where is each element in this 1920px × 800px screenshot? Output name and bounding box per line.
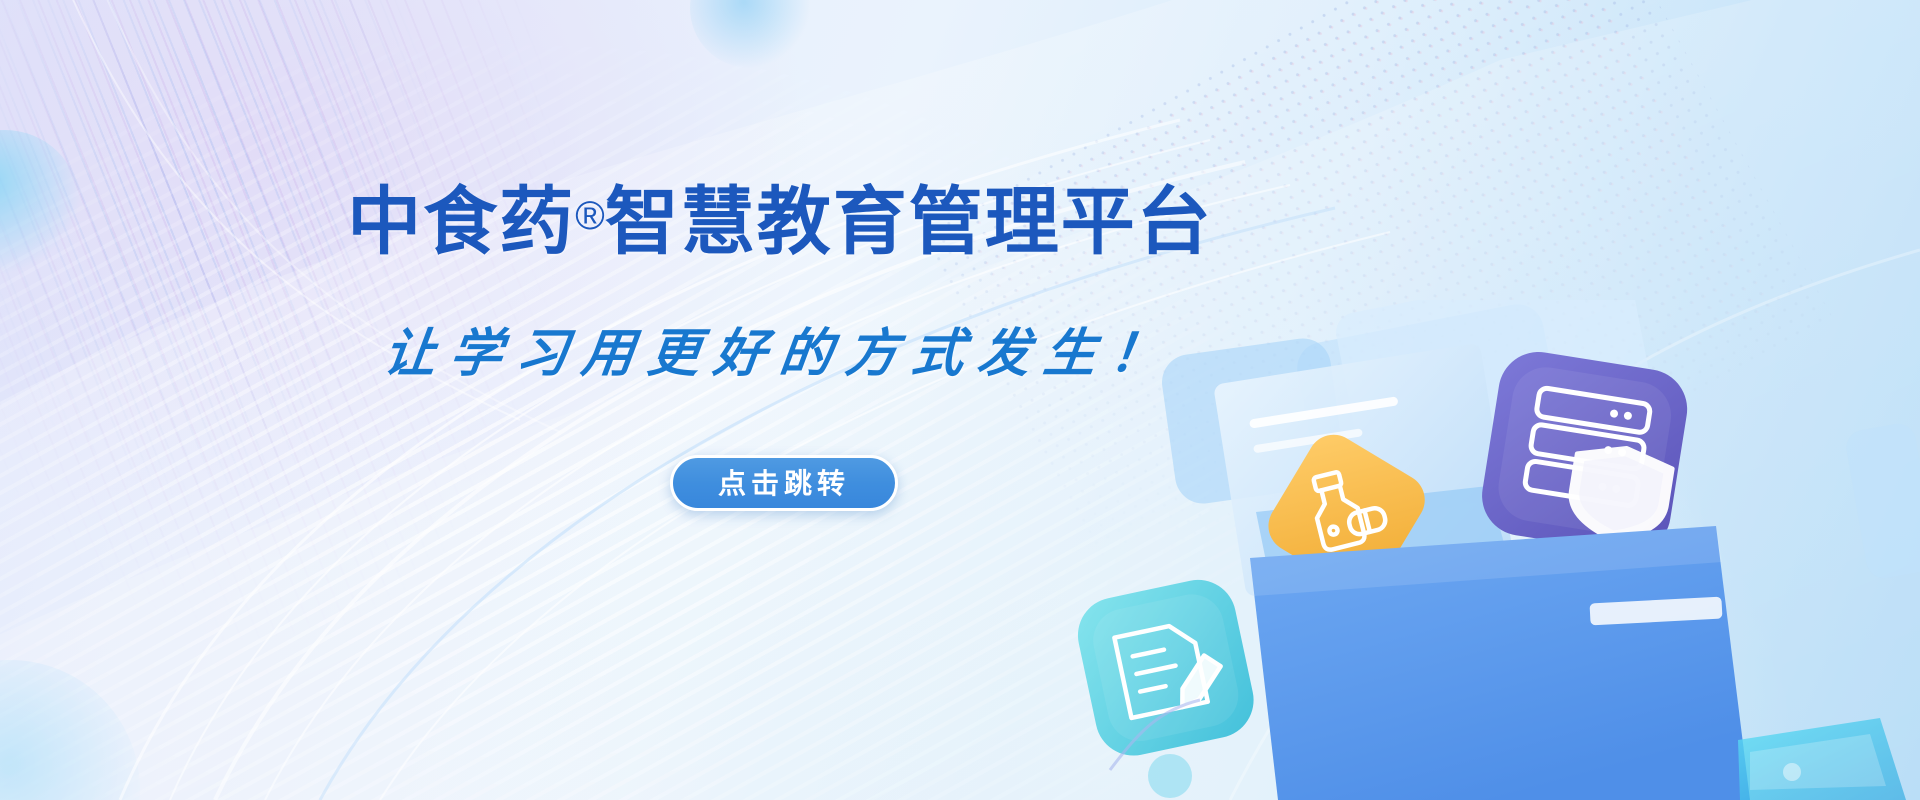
registered-trademark-icon: ® bbox=[575, 194, 604, 238]
folder-front-panel bbox=[1250, 526, 1750, 800]
side-panel bbox=[1844, 421, 1920, 581]
server-shield-icon bbox=[1476, 346, 1693, 558]
title-rest: 智慧教育管理平台 bbox=[605, 180, 1213, 263]
document-pencil-icon bbox=[1071, 573, 1261, 763]
title-brand: 中食药 bbox=[347, 180, 575, 263]
hero-banner: 中食药®智慧教育管理平台 让学习用更好的方式发生！ 点击跳转 bbox=[0, 0, 1920, 800]
hero-illustration bbox=[1050, 300, 1920, 800]
jump-button[interactable]: 点击跳转 bbox=[670, 455, 898, 511]
banner-title: 中食药®智慧教育管理平台 bbox=[0, 176, 1560, 262]
glass-prism bbox=[1738, 718, 1906, 800]
